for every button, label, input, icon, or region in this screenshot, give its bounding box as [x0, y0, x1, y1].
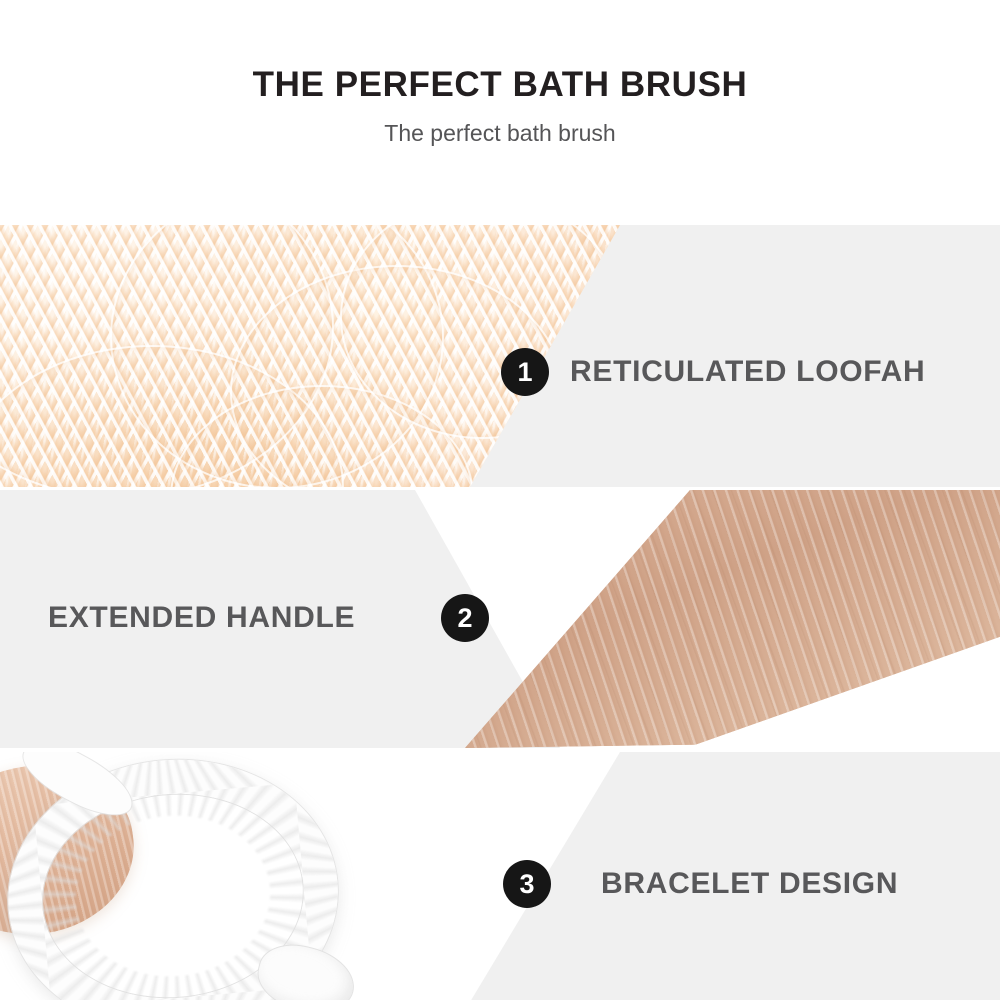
product-infographic: THE PERFECT BATH BRUSH The perfect bath …: [0, 0, 1000, 1000]
feature-3-label: BRACELET DESIGN: [601, 869, 898, 899]
feature-row-2: 2 EXTENDED HANDLE: [0, 490, 1000, 748]
feature-row-3: 3 BRACELET DESIGN: [0, 752, 1000, 1000]
feature-2-label: EXTENDED HANDLE: [48, 603, 355, 633]
feature-1-label: RETICULATED LOOFAH: [570, 357, 925, 387]
feature-row-1: 1 RETICULATED LOOFAH: [0, 225, 1000, 487]
header-block: THE PERFECT BATH BRUSH The perfect bath …: [0, 0, 1000, 225]
page-subtitle: The perfect bath brush: [0, 105, 1000, 146]
feature-3-number-badge: 3: [503, 860, 551, 908]
feature-1-number-badge: 1: [501, 348, 549, 396]
feature-2-number-badge: 2: [441, 594, 489, 642]
page-title: THE PERFECT BATH BRUSH: [0, 0, 1000, 105]
